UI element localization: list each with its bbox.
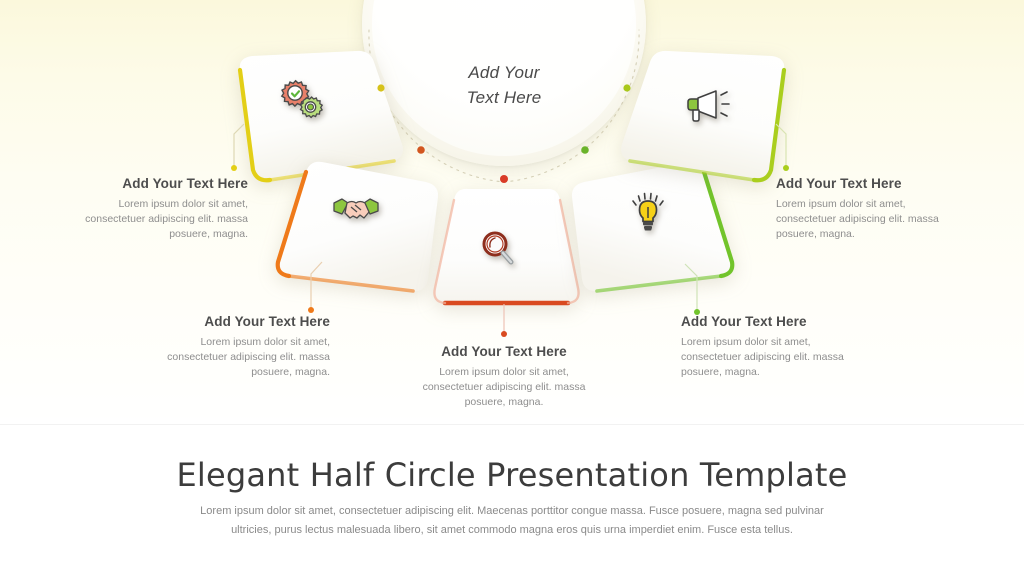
megaphone-icon <box>685 88 735 126</box>
connector-lightbulb <box>680 262 708 318</box>
background-bottom <box>0 424 1024 576</box>
text-block-lightbulb[interactable]: Add Your Text Here Lorem ipsum dolor sit… <box>681 314 851 380</box>
lightbulb-icon <box>630 192 668 236</box>
text-block-magnifier[interactable]: Add Your Text Here Lorem ipsum dolor sit… <box>419 344 589 410</box>
text-block-title: Add Your Text Here <box>160 314 330 329</box>
text-block-title: Add Your Text Here <box>776 176 946 191</box>
text-block-body: Lorem ipsum dolor sit amet, consectetuer… <box>78 197 248 242</box>
connector-gears <box>226 122 250 174</box>
slide-canvas: Add Your Text Here <box>0 0 1024 576</box>
connector-magnifier <box>495 302 515 342</box>
text-block-title: Add Your Text Here <box>419 344 589 359</box>
text-block-gears[interactable]: Add Your Text Here Lorem ipsum dolor sit… <box>78 176 248 242</box>
section-divider <box>0 424 1024 425</box>
connector-handshake <box>300 260 328 316</box>
text-block-body: Lorem ipsum dolor sit amet, consectetuer… <box>419 365 589 410</box>
magnifier-icon <box>480 230 516 268</box>
connector-megaphone <box>770 122 794 174</box>
handshake-icon <box>332 194 380 224</box>
page-title: Elegant Half Circle Presentation Templat… <box>0 456 1024 494</box>
text-block-body: Lorem ipsum dolor sit amet, consectetuer… <box>776 197 946 242</box>
text-block-title: Add Your Text Here <box>681 314 851 329</box>
text-block-handshake[interactable]: Add Your Text Here Lorem ipsum dolor sit… <box>160 314 330 380</box>
gears-icon <box>276 78 322 122</box>
page-subtitle: Lorem ipsum dolor sit amet, consectetuer… <box>187 502 837 540</box>
text-block-body: Lorem ipsum dolor sit amet, consectetuer… <box>681 335 851 380</box>
text-block-body: Lorem ipsum dolor sit amet, consectetuer… <box>160 335 330 380</box>
text-block-title: Add Your Text Here <box>78 176 248 191</box>
text-block-megaphone[interactable]: Add Your Text Here Lorem ipsum dolor sit… <box>776 176 946 242</box>
